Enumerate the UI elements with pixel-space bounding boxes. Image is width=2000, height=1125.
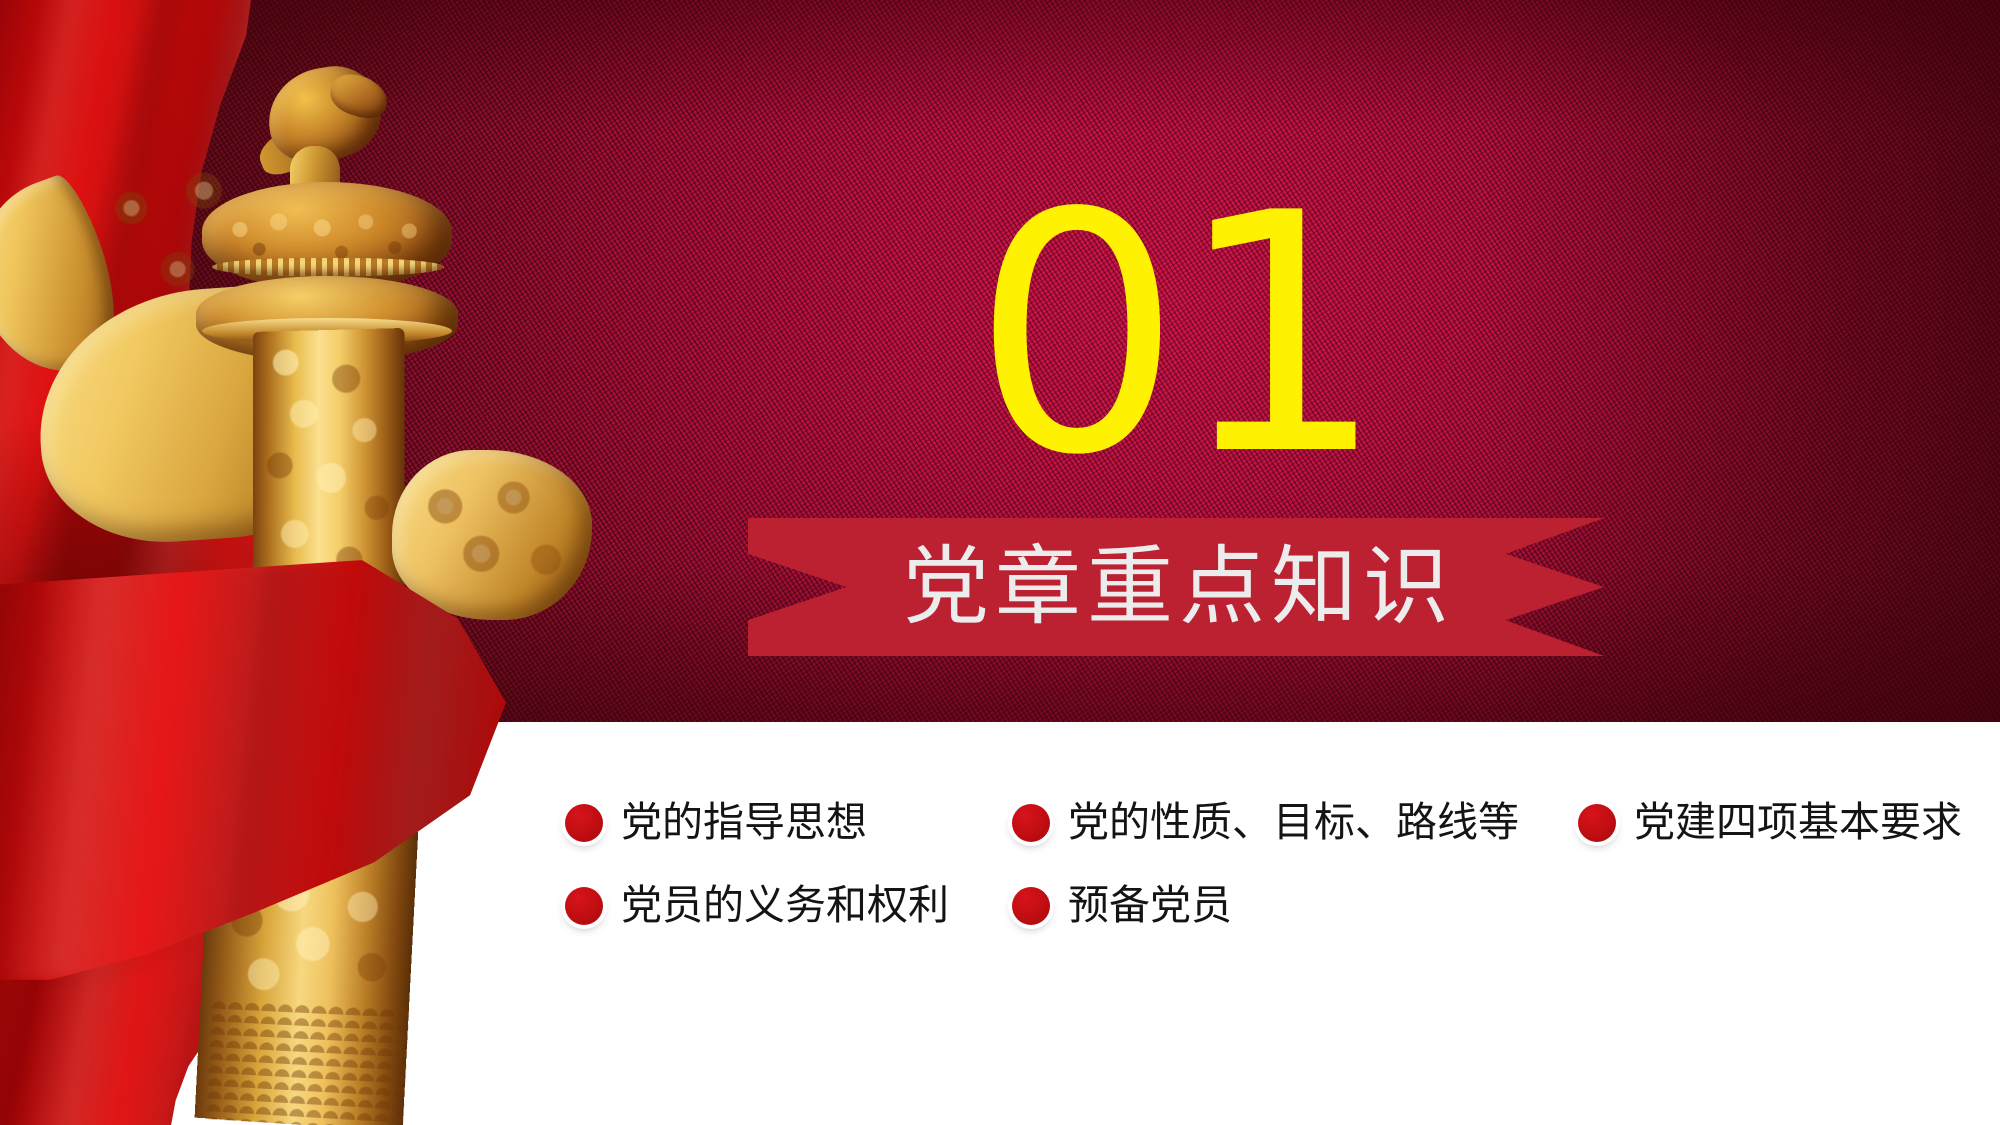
- bullet-item[interactable]: 党的指导思想: [565, 802, 867, 843]
- bullet-label: 党建四项基本要求: [1634, 802, 1962, 843]
- bullet-dot-icon: [1578, 804, 1616, 842]
- cloud-right-swirls: [402, 462, 582, 610]
- bullet-item[interactable]: 党员的义务和权利: [565, 885, 949, 926]
- bullet-label: 党员的义务和权利: [621, 885, 949, 926]
- bullet-item[interactable]: 预备党员: [1012, 885, 1232, 926]
- section-title: 党章重点知识: [897, 544, 1455, 630]
- slide-root: 01 党章重点知识 党的指导思想党的性质、目标、路线等党建四项基本要求党员的义务…: [0, 0, 2000, 1125]
- bullet-dot-icon: [1012, 804, 1050, 842]
- bullet-dot-icon: [565, 804, 603, 842]
- section-number: 01: [972, 170, 1380, 500]
- bullet-item[interactable]: 党建四项基本要求: [1578, 802, 1962, 843]
- bullet-label: 预备党员: [1068, 885, 1232, 926]
- bullet-list: 党的指导思想党的性质、目标、路线等党建四项基本要求党员的义务和权利预备党员: [0, 722, 2000, 1125]
- bead-band: [212, 258, 444, 276]
- bullet-item[interactable]: 党的性质、目标、路线等: [1012, 802, 1519, 843]
- bullet-label: 党的性质、目标、路线等: [1068, 802, 1519, 843]
- bullet-dot-icon: [1012, 887, 1050, 925]
- bullet-label: 党的指导思想: [621, 802, 867, 843]
- bullet-dot-icon: [565, 887, 603, 925]
- ribbon-banner: 党章重点知识: [748, 518, 1604, 656]
